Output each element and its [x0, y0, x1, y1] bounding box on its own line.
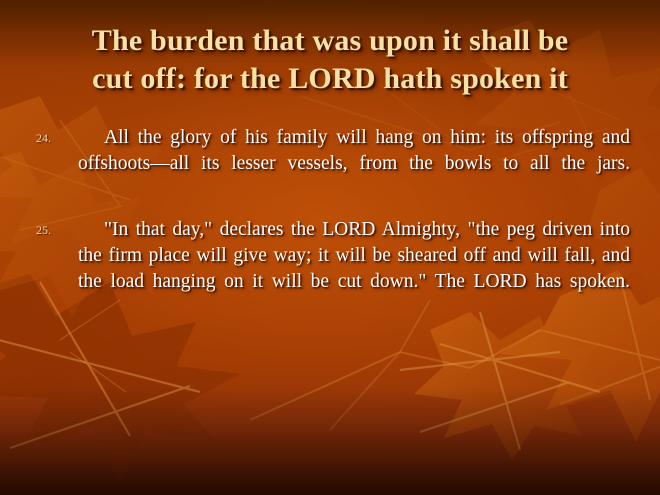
slide-title-line-2: cut off: for the LORD hath spoken it — [28, 60, 632, 98]
verse-text: "In that day," declares the LORD Almight… — [78, 217, 630, 321]
verse-number: 24. — [36, 131, 70, 146]
slide-title: The burden that was upon it shall be cut… — [28, 22, 632, 98]
verse-item: 25. "In that day," declares the LORD Alm… — [30, 217, 630, 321]
verse-text: All the glory of his family will hang on… — [78, 125, 630, 203]
presentation-slide: The burden that was upon it shall be cut… — [0, 0, 660, 495]
verse-number: 25. — [36, 223, 70, 238]
verse-list: 24. All the glory of his family will han… — [30, 125, 630, 335]
slide-content: The burden that was upon it shall be cut… — [0, 0, 660, 495]
slide-title-line-1: The burden that was upon it shall be — [28, 22, 632, 60]
verse-item: 24. All the glory of his family will han… — [30, 125, 630, 203]
